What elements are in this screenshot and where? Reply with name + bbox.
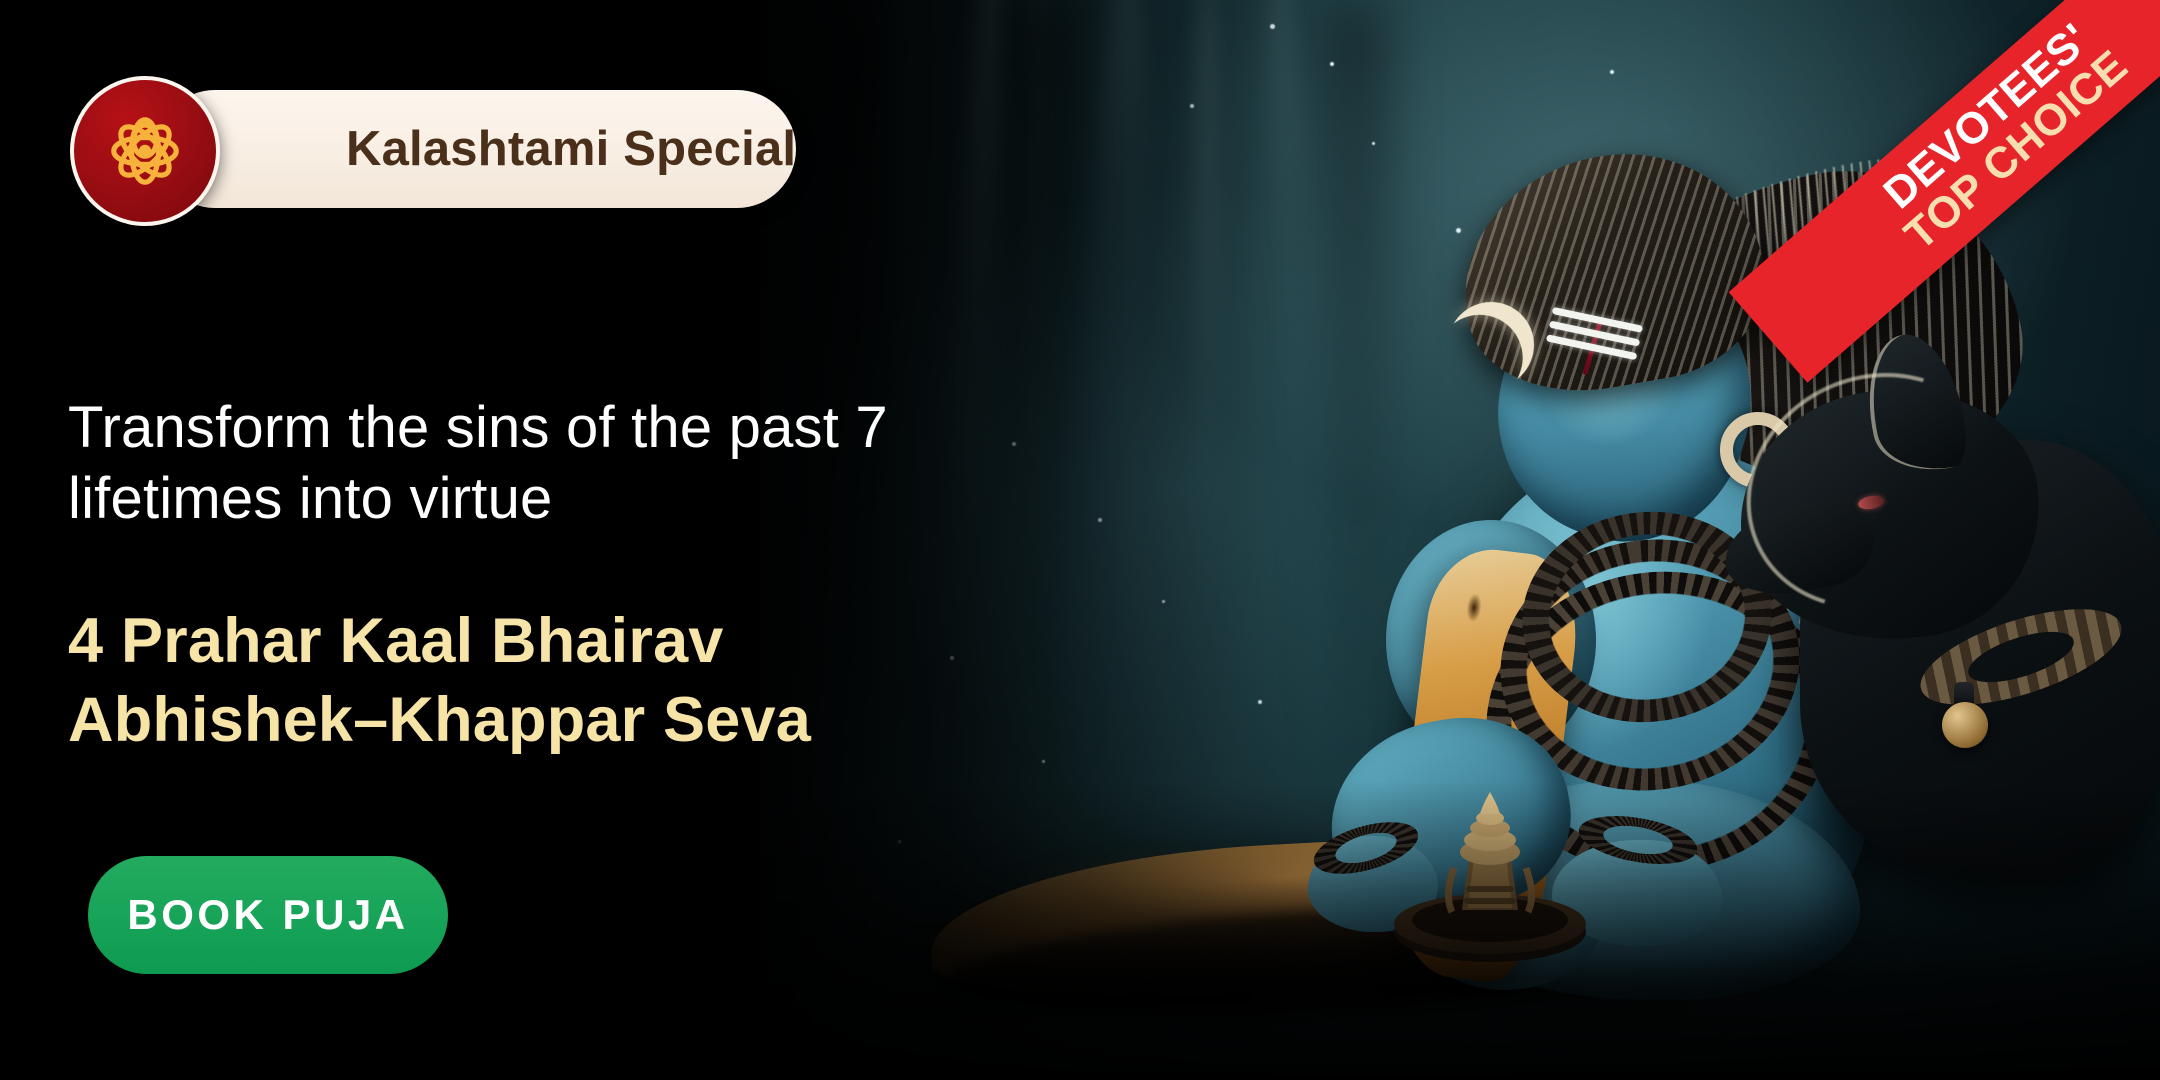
dog-bell-icon <box>1942 702 1988 748</box>
star <box>1610 70 1614 74</box>
star <box>1330 62 1334 66</box>
lotus-flower-icon <box>93 99 197 203</box>
puja-title-line-1: 4 Prahar Kaal Bhairav <box>68 602 968 681</box>
puja-title-line-2: Abhishek–Khappar Seva <box>68 681 968 760</box>
book-puja-label: BOOK PUJA <box>127 891 408 939</box>
promo-banner: DEVOTEES' TOP CHOICE Kalashtami Special <box>0 0 2160 1080</box>
headline: Transform the sins of the past 7 lifetim… <box>68 392 968 535</box>
content-panel: Kalashtami Special Transform the sins of… <box>0 0 1100 1080</box>
headline-line-1: Transform the sins of the past 7 <box>68 392 968 463</box>
brand-logo <box>70 76 220 226</box>
badge-pill: Kalashtami Special <box>156 90 796 208</box>
badge-label: Kalashtami Special <box>346 121 796 177</box>
headline-line-2: lifetimes into virtue <box>68 463 968 534</box>
puja-title: 4 Prahar Kaal Bhairav Abhishek–Khappar S… <box>68 602 968 760</box>
book-puja-button[interactable]: BOOK PUJA <box>88 856 448 974</box>
